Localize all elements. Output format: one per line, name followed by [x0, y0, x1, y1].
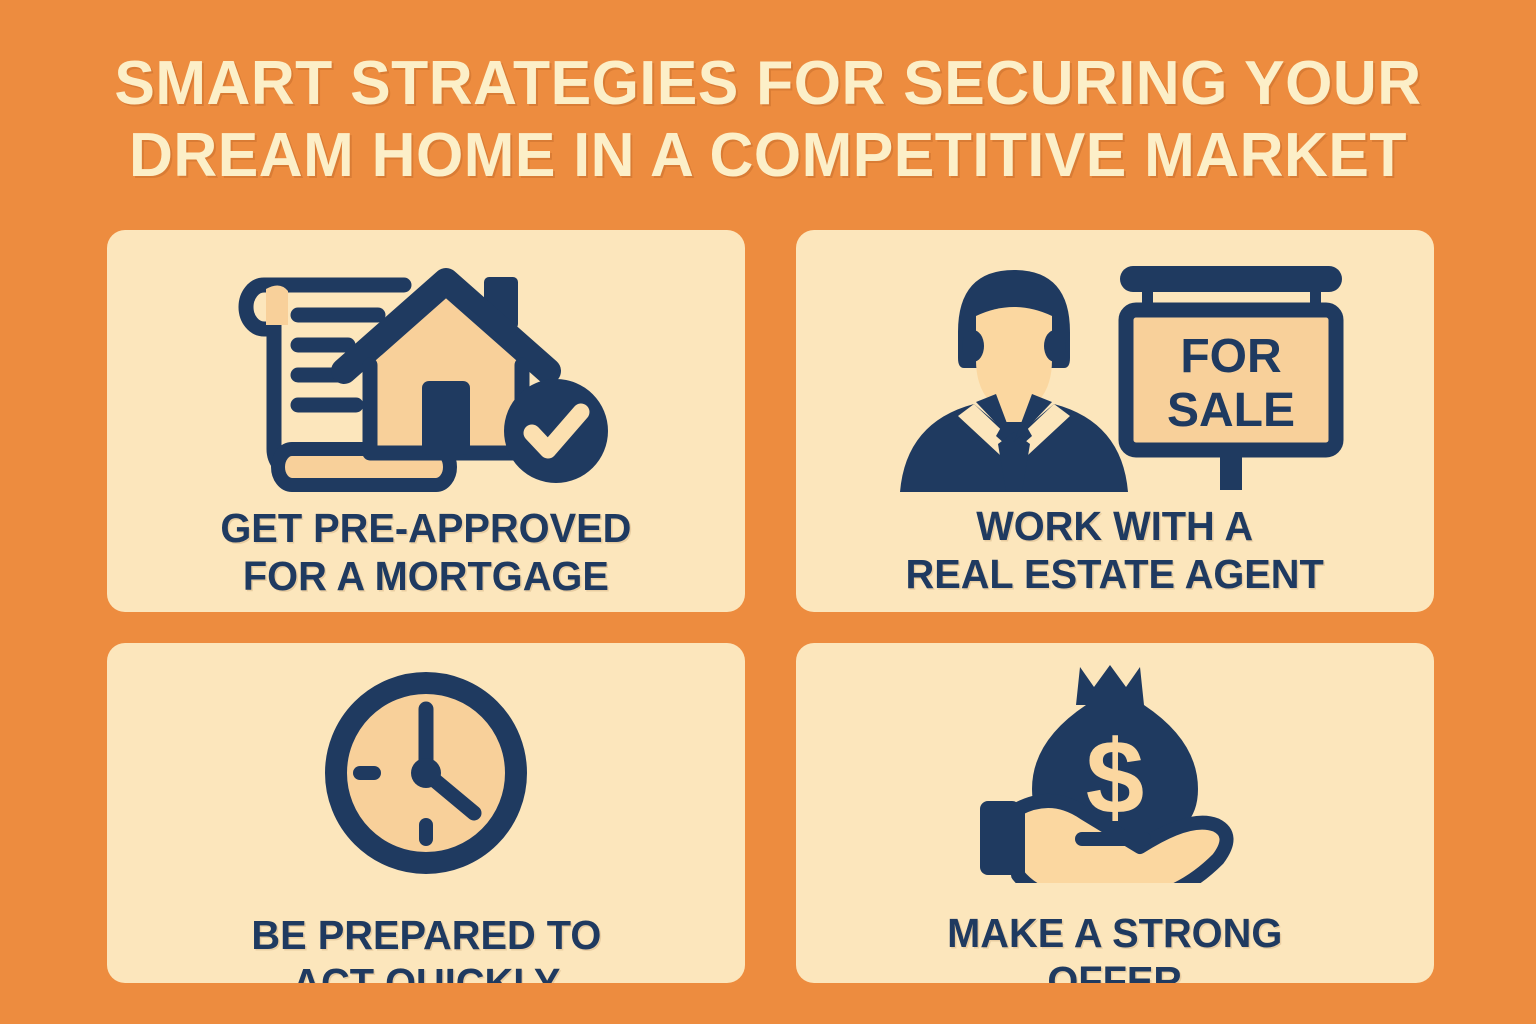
card-label-work-with-agent: WORK WITH A REAL ESTATE AGENT [906, 502, 1324, 598]
card-label-make-strong-offer: MAKE A STRONG OFFER [947, 909, 1282, 983]
card-make-strong-offer[interactable]: $ MAKE A STRONG OFFER [796, 643, 1434, 983]
clock-icon [318, 665, 534, 881]
card-label-be-prepared-act-quickly: BE PREPARED TO ACT QUICKLY [251, 911, 601, 983]
card-be-prepared-act-quickly[interactable]: BE PREPARED TO ACT QUICKLY [107, 643, 745, 983]
page-title-line-1: SMART STRATEGIES FOR SECURING YOUR [104, 48, 1433, 120]
card-work-with-agent[interactable]: FOR SALE WORK WITH A REAL ESTATE AGENT [796, 230, 1434, 612]
hand-holding-money-bag-icon: $ [970, 653, 1260, 883]
for-sale-sign-line-1: FOR [1180, 330, 1281, 383]
real-estate-agent-for-sale-sign-icon: FOR SALE [880, 250, 1350, 498]
card-label-get-pre-approved: GET PRE-APPROVED FOR A MORTGAGE [220, 504, 631, 600]
page-title-line-2: DREAM HOME IN A COMPETITIVE MARKET [104, 120, 1433, 192]
mortgage-document-house-check-icon [226, 248, 626, 498]
for-sale-sign-line-2: SALE [1167, 384, 1295, 437]
strategy-card-grid: GET PRE-APPROVED FOR A MORTGAGE [107, 230, 1434, 983]
card-get-pre-approved[interactable]: GET PRE-APPROVED FOR A MORTGAGE [107, 230, 745, 612]
page-title: SMART STRATEGIES FOR SECURING YOUR DREAM… [0, 48, 1536, 192]
